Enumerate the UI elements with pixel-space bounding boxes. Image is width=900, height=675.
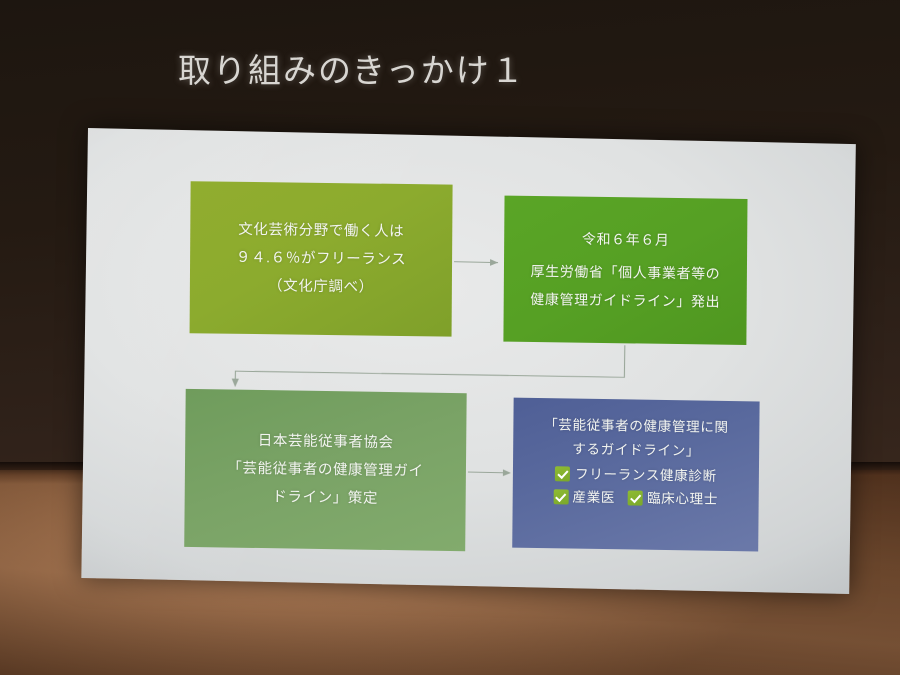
projection-screen: 文化芸術分野で働く人は ９４.６％がフリーランス （文化庁調べ） 令和６年６月 …	[81, 128, 856, 594]
check-icon	[553, 490, 568, 505]
box-statistic-line-3: （文化庁調べ）	[268, 272, 374, 302]
box-ministry-guideline[interactable]: 令和６年６月 厚生労働省「個人事業者等の 健康管理ガイドライン」発出	[503, 196, 747, 345]
box-statistic-line-2: ９４.６％がフリーランス	[236, 244, 407, 274]
slide-canvas: 文化芸術分野で働く人は ９４.６％がフリーランス （文化庁調べ） 令和６年６月 …	[81, 128, 856, 594]
box-guideline-items[interactable]: 「芸能従事者の健康管理に関 するガイドライン」 フリーランス健康診断 産業医 臨…	[512, 398, 759, 552]
box-association-line-1: 日本芸能従事者協会	[258, 427, 394, 457]
checklist-row-2: 産業医 臨床心理士	[553, 485, 718, 511]
box-association[interactable]: 日本芸能従事者協会 「芸能従事者の健康管理ガイ ドライン」策定	[184, 389, 466, 551]
arrowhead-association-to-items	[503, 469, 511, 476]
check-icon	[555, 466, 570, 481]
box-statistic[interactable]: 文化芸術分野で働く人は ９４.６％がフリーランス （文化庁調べ）	[190, 181, 453, 336]
photographed-presentation-scene: 取り組みのきっかけ１	[0, 0, 900, 675]
box-association-line-2: 「芸能従事者の健康管理ガイ	[227, 454, 424, 485]
checklist-row-1: フリーランス健康診断	[555, 462, 717, 488]
checklist-item-occupational-physician: 産業医	[572, 486, 615, 510]
box-association-line-3: ドライン」策定	[272, 483, 378, 513]
checklist-item-clinical-psychologist: 臨床心理士	[647, 487, 718, 511]
checklist-item-health-screening: フリーランス健康診断	[575, 462, 717, 488]
arrowhead-stat-to-guideline	[490, 259, 498, 266]
box-statistic-line-1: 文化芸術分野で働く人は	[238, 215, 404, 245]
box-ministry-guideline-line-2: 厚生労働省「個人事業者等の	[530, 258, 720, 288]
box-ministry-guideline-line-3: 健康管理ガイドライン」発出	[530, 286, 720, 316]
arrowhead-guideline-to-association	[232, 379, 239, 388]
checklist-group-clinical-psychologist: 臨床心理士	[628, 487, 718, 512]
connector-guideline-to-association	[235, 337, 625, 391]
page-title: 取り組みのきっかけ１	[178, 44, 526, 92]
box-ministry-guideline-date: 令和６年６月	[582, 226, 670, 255]
box-guideline-items-headline-1: 「芸能従事者の健康管理に関	[544, 413, 729, 439]
check-icon	[628, 491, 643, 506]
box-guideline-items-headline-2: するガイドライン」	[572, 438, 700, 463]
connector-stat-to-guideline	[454, 262, 498, 263]
connector-association-to-items	[468, 472, 507, 473]
checklist-group-occupational-physician: 産業医	[553, 485, 615, 509]
